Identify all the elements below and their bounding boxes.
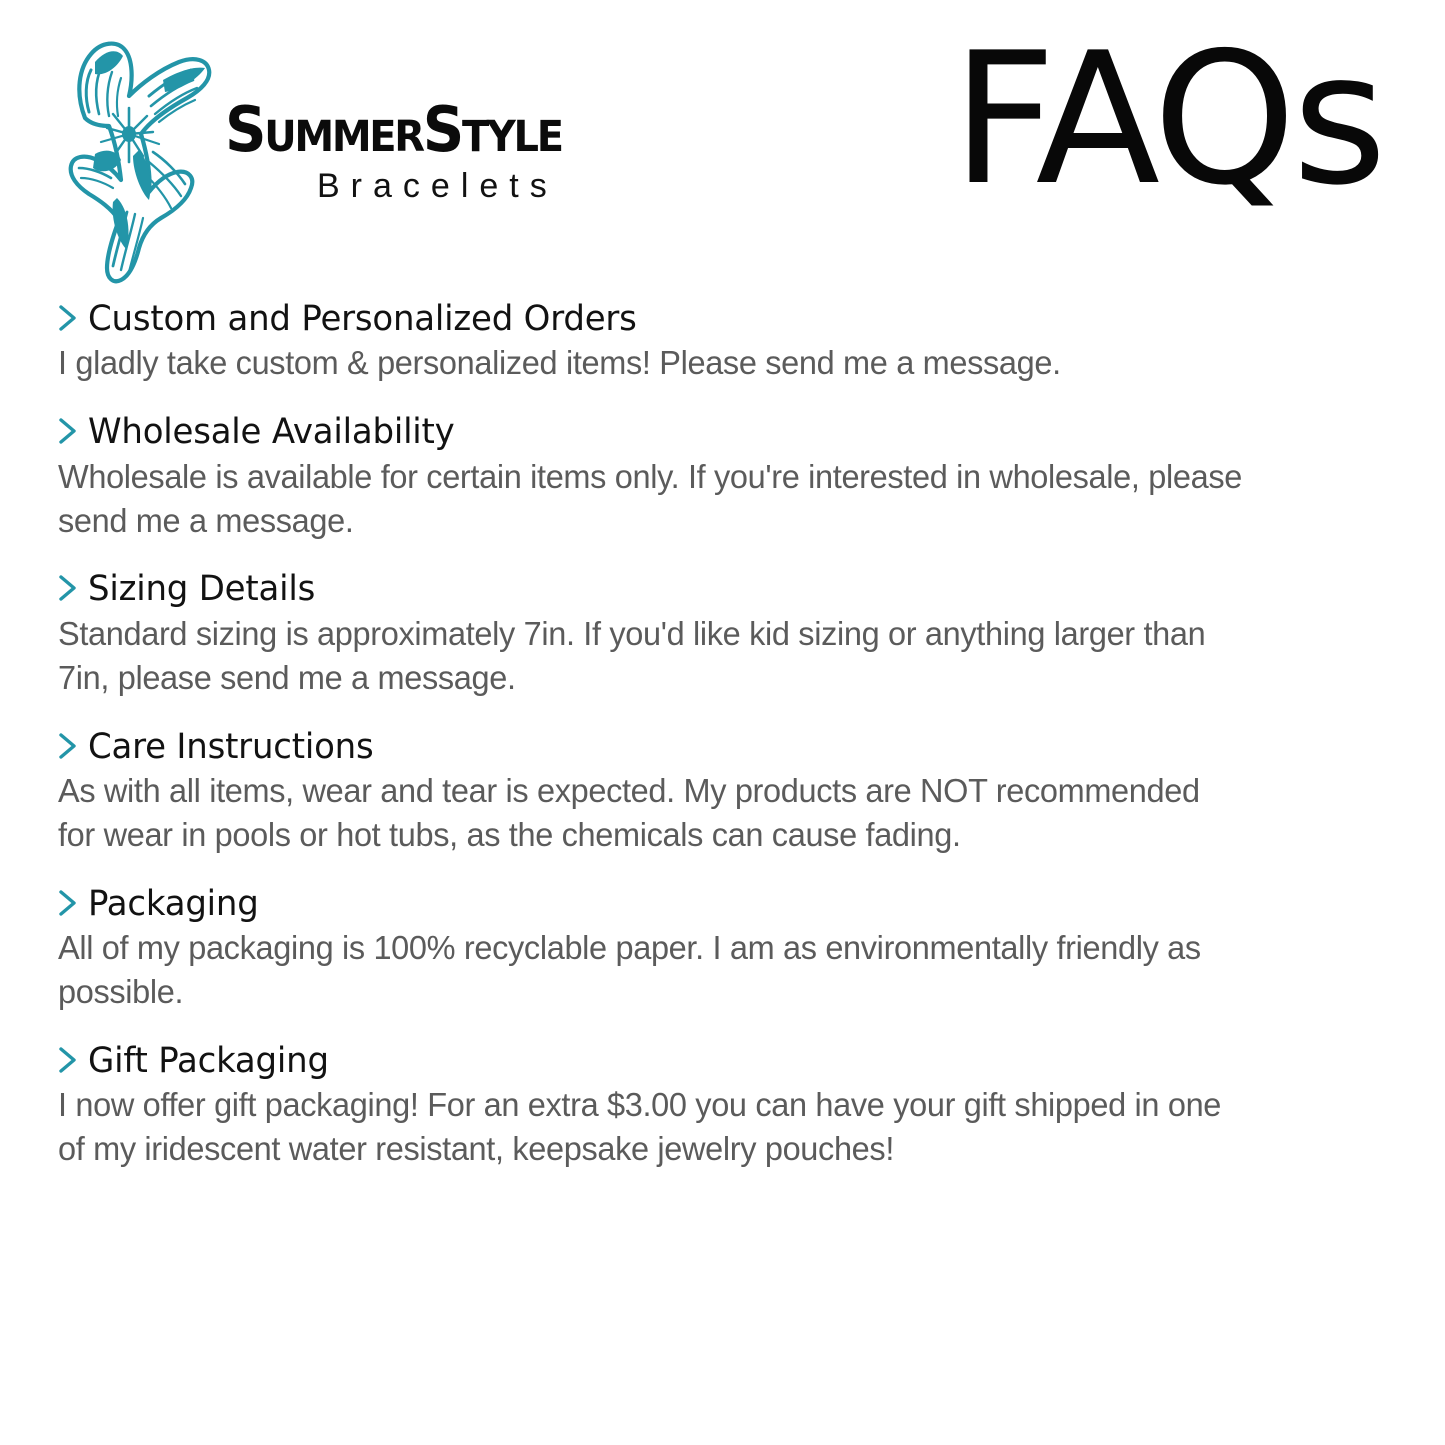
faq-heading-row: Wholesale Availability — [58, 413, 1388, 450]
chevron-right-icon — [58, 888, 80, 918]
faq-item: Packaging All of my packaging is 100% re… — [58, 885, 1388, 1014]
faq-item: Custom and Personalized Orders I gladly … — [58, 300, 1388, 385]
faq-body: As with all items, wear and tear is expe… — [58, 769, 1245, 857]
faq-heading: Wholesale Availability — [88, 414, 455, 450]
faq-body: I now offer gift packaging! For an extra… — [58, 1083, 1245, 1171]
faq-heading: Sizing Details — [88, 571, 315, 607]
faq-heading-row: Packaging — [58, 885, 1388, 922]
brand-wordmark: SummerStyle Bracelets — [225, 22, 587, 206]
brand-name: SummerStyle — [225, 100, 562, 161]
faq-heading: Packaging — [88, 886, 259, 922]
faq-heading: Custom and Personalized Orders — [88, 301, 637, 337]
page-header: SummerStyle Bracelets FAQs — [0, 0, 1445, 292]
chevron-right-icon — [58, 1045, 80, 1075]
faq-heading-row: Gift Packaging — [58, 1042, 1388, 1079]
faq-item: Sizing Details Standard sizing is approx… — [58, 570, 1388, 699]
faq-heading-row: Care Instructions — [58, 728, 1388, 765]
faq-body: Wholesale is available for certain items… — [58, 455, 1245, 543]
faq-heading: Gift Packaging — [88, 1043, 329, 1079]
faq-heading-row: Sizing Details — [58, 570, 1388, 607]
faq-item: Gift Packaging I now offer gift packagin… — [58, 1042, 1388, 1171]
faq-body: All of my packaging is 100% recyclable p… — [58, 926, 1245, 1014]
faq-heading-row: Custom and Personalized Orders — [58, 300, 1388, 337]
faq-body: Standard sizing is approximately 7in. If… — [58, 612, 1245, 700]
chevron-right-icon — [58, 416, 80, 446]
chevron-right-icon — [58, 573, 80, 603]
chevron-right-icon — [58, 731, 80, 761]
page-title: FAQs — [952, 28, 1383, 210]
chevron-right-icon — [58, 303, 80, 333]
faq-heading: Care Instructions — [88, 729, 373, 765]
faq-item: Care Instructions As with all items, wea… — [58, 728, 1388, 857]
starfish-icon — [55, 22, 223, 290]
faq-item: Wholesale Availability Wholesale is avai… — [58, 413, 1388, 542]
brand-subtitle: Bracelets — [317, 167, 587, 206]
faq-body: I gladly take custom & personalized item… — [58, 341, 1245, 385]
faq-list: Custom and Personalized Orders I gladly … — [58, 300, 1388, 1171]
brand-logo-lockup: SummerStyle Bracelets — [55, 22, 587, 290]
